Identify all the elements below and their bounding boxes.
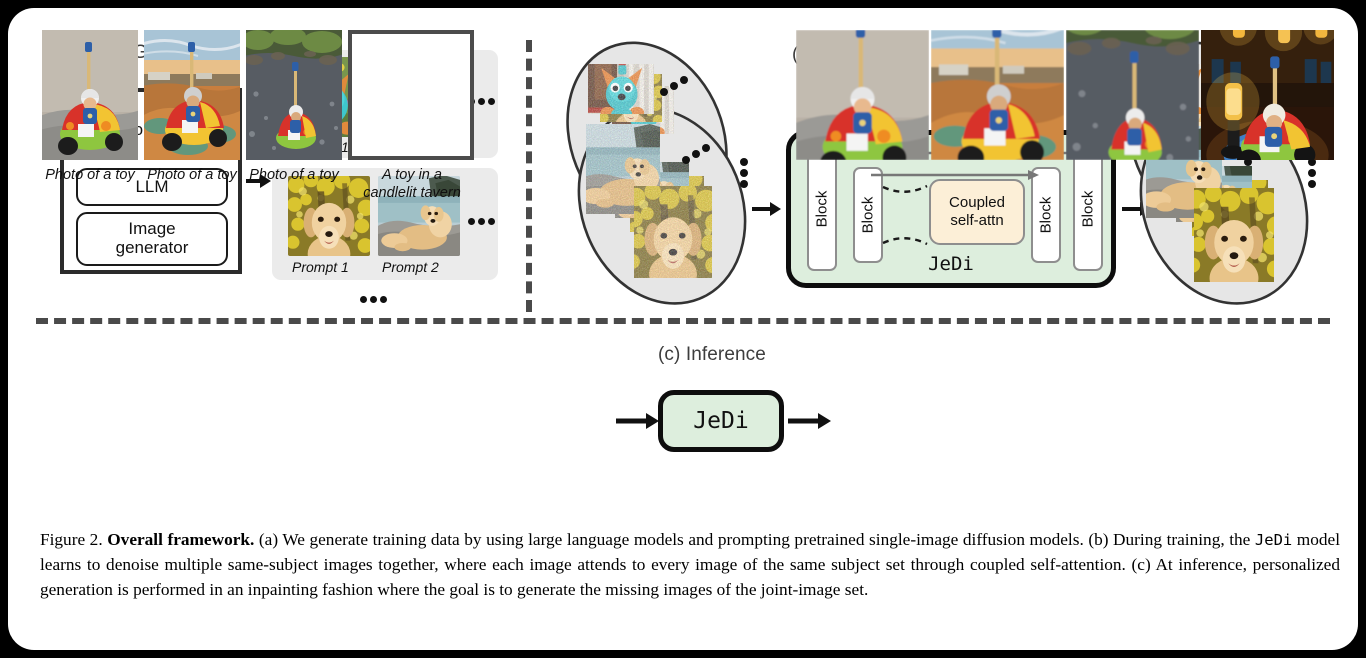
inference-output-image bbox=[931, 30, 1064, 160]
inference-output-image bbox=[1066, 30, 1199, 160]
training-input-set bbox=[542, 38, 772, 310]
arrow-input-to-jedi bbox=[752, 200, 782, 218]
jedi-inference-box: JeDi bbox=[658, 390, 784, 452]
inference-input-caption: Photo of a toy bbox=[32, 166, 148, 184]
inference-input-caption: Photo of a toy bbox=[134, 166, 250, 184]
arrow-inputs-to-jedi bbox=[616, 412, 660, 430]
inference-input-image bbox=[144, 30, 240, 160]
noisy-image-stack-item bbox=[634, 186, 712, 278]
image-generator-line1: Image bbox=[128, 219, 175, 238]
inference-output-image bbox=[1201, 30, 1334, 160]
arrow-jedi-to-results bbox=[788, 412, 832, 430]
figure-card: (a) Data Generation Data generator LLM bbox=[8, 8, 1358, 650]
prompt-label: Prompt 2 bbox=[382, 259, 439, 275]
figure-caption: Figure 2. Overall framework. (a) We gene… bbox=[40, 528, 1340, 603]
framework-diagram: (a) Data Generation Data generator LLM bbox=[30, 22, 1336, 522]
caption-body-part1: (a) We generate training data by using l… bbox=[254, 530, 1255, 549]
prompt-label: Prompt 1 bbox=[292, 259, 349, 275]
horizontal-divider bbox=[36, 318, 1330, 324]
dataset-ellipsis bbox=[360, 296, 387, 303]
inference-output-image bbox=[796, 30, 929, 160]
inference-blank-placeholder bbox=[348, 30, 474, 160]
clean-image-stack-item bbox=[1194, 188, 1274, 282]
inference-blank-caption: A toy in a candlelit tavern bbox=[342, 166, 482, 202]
output-set-ellipsis bbox=[1308, 158, 1320, 192]
prompt-group-ellipsis bbox=[468, 218, 495, 225]
figure-page: (a) Data Generation Data generator LLM bbox=[0, 0, 1366, 658]
caption-mono-term: JeDi bbox=[1255, 531, 1292, 549]
image-generator-line2: generator bbox=[116, 238, 189, 257]
blank-caption-line2: candlelit tavern bbox=[363, 185, 461, 201]
stack-ellipsis bbox=[682, 144, 716, 170]
noisy-image-stack-item bbox=[588, 64, 654, 114]
image-generator-pill: Image generator bbox=[76, 212, 228, 266]
inference-input-caption: Photo of a toy bbox=[236, 166, 352, 184]
inference-input-image bbox=[42, 30, 138, 160]
inference-input-image bbox=[246, 30, 342, 160]
caption-figure-number: Figure 2. bbox=[40, 530, 103, 549]
blank-caption-line1: A toy in a bbox=[382, 167, 442, 183]
stack-ellipsis bbox=[660, 76, 694, 102]
caption-bold-title: Overall framework. bbox=[107, 530, 254, 549]
vertical-divider bbox=[526, 40, 532, 312]
input-set-ellipsis bbox=[740, 158, 752, 192]
section-title-c: (c) Inference bbox=[658, 344, 766, 366]
jedi-label: JeDi bbox=[791, 253, 1111, 275]
